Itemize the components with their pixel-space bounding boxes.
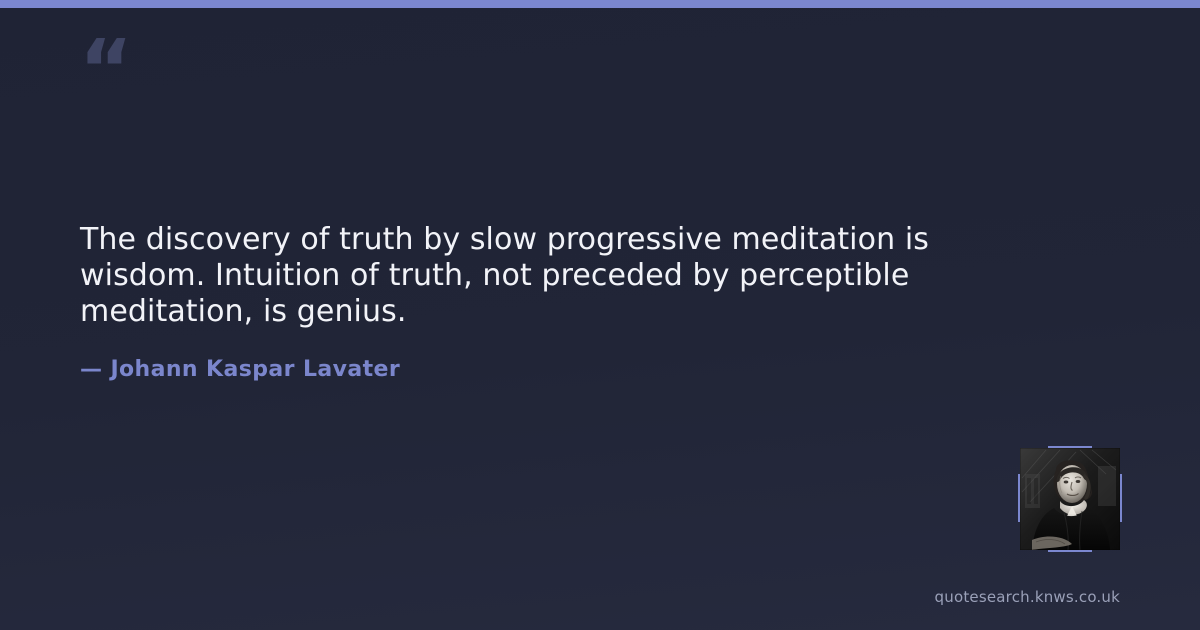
- quote-text: The discovery of truth by slow progressi…: [80, 222, 995, 330]
- source-url: quotesearch.knws.co.uk: [935, 588, 1120, 606]
- quote-card: “ The discovery of truth by slow progres…: [0, 0, 1200, 630]
- author-portrait: [1020, 448, 1120, 550]
- quotation-mark-icon: “: [79, 30, 131, 112]
- quote-body: The discovery of truth by slow progressi…: [80, 222, 1020, 382]
- quote-author: — Johann Kaspar Lavater: [80, 330, 1020, 382]
- portrait-frame-bottom: [1048, 550, 1092, 552]
- portrait-image: [1020, 448, 1120, 550]
- portrait-frame-right: [1120, 474, 1122, 522]
- top-accent-bar: [0, 0, 1200, 8]
